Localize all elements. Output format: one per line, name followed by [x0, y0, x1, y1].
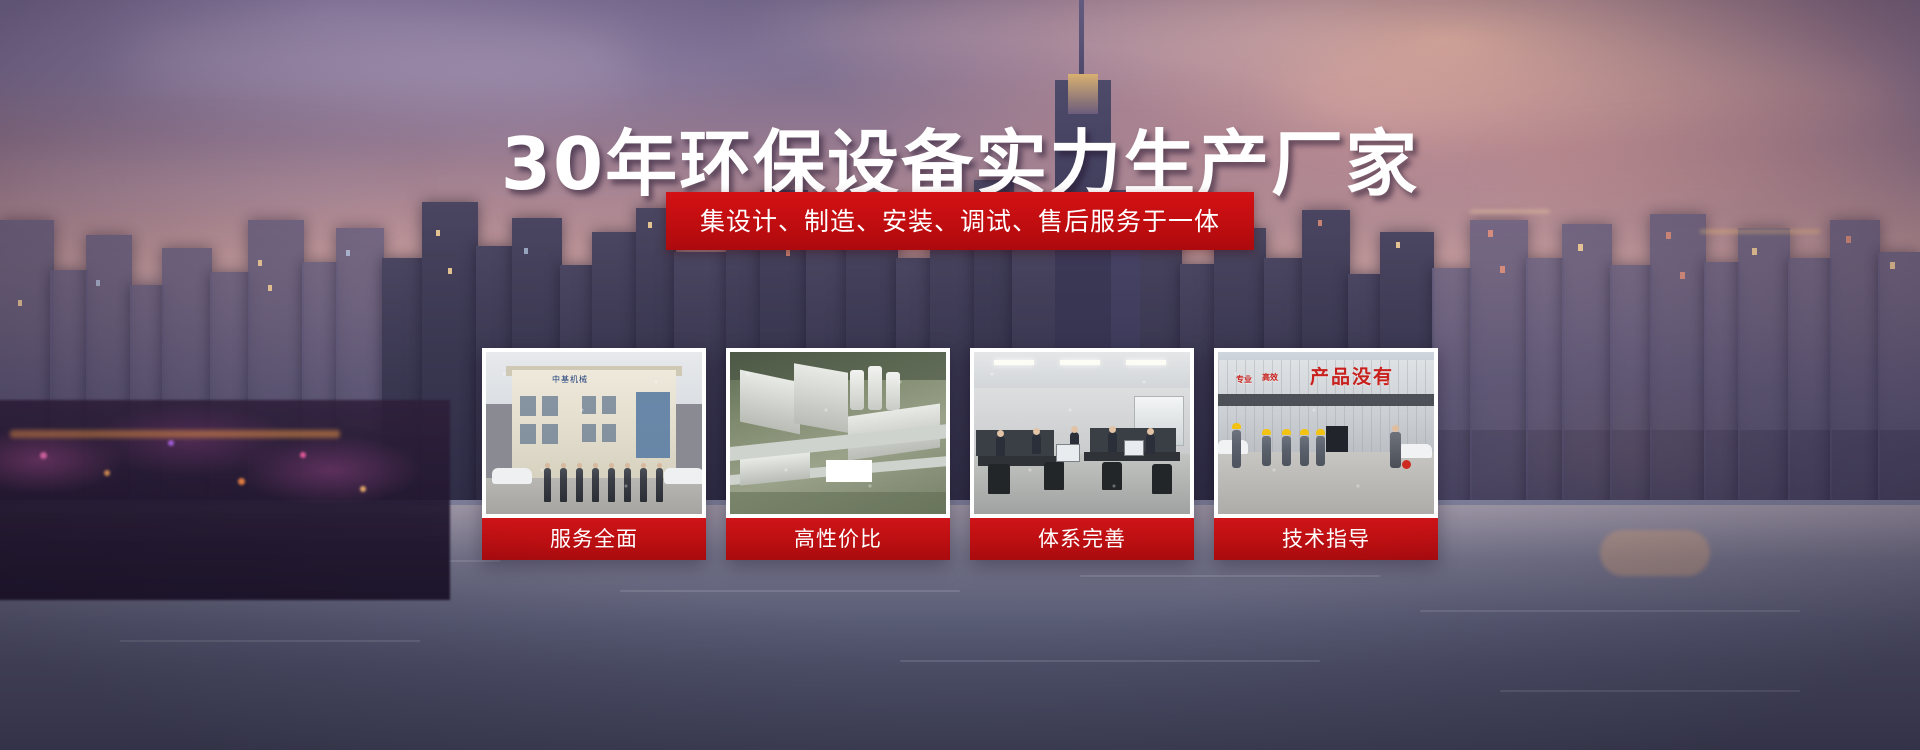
feature-card-service[interactable]: 中基机械 — [482, 348, 706, 560]
subtitle-banner: 集设计、制造、安装、调试、售后服务于一体 — [666, 192, 1254, 250]
card-photo-office-interior — [974, 352, 1190, 514]
card-label-guidance: 技术指导 — [1214, 518, 1438, 560]
card-photo-aerial-plant — [730, 352, 946, 514]
card-photo-factory-yard: 产品没有 专业 高效 — [1218, 352, 1434, 514]
right-building-light-strip — [1700, 230, 1820, 233]
river-light-reflection-2 — [1600, 530, 1710, 576]
photo-watermark — [486, 352, 702, 514]
hero-banner: 30年环保设备实力生产厂家 集设计、制造、安装、调试、售后服务于一体 中基机械 — [0, 0, 1920, 750]
photo-watermark — [974, 352, 1190, 514]
riverside-light-band — [10, 430, 340, 438]
feature-card-value[interactable]: 高性价比 — [726, 348, 950, 560]
feature-card-guidance[interactable]: 产品没有 专业 高效 技术指导 — [1214, 348, 1438, 560]
feature-card-row: 中基机械 — [482, 348, 1438, 560]
card-label-value: 高性价比 — [726, 518, 950, 560]
feature-card-system[interactable]: 体系完善 — [970, 348, 1194, 560]
photo-watermark — [1218, 352, 1434, 514]
card-photo-office-building: 中基机械 — [486, 352, 702, 514]
card-label-system: 体系完善 — [970, 518, 1194, 560]
card-label-service: 服务全面 — [482, 518, 706, 560]
photo-watermark — [730, 352, 946, 514]
right-building-light-strip-2 — [1470, 210, 1550, 213]
